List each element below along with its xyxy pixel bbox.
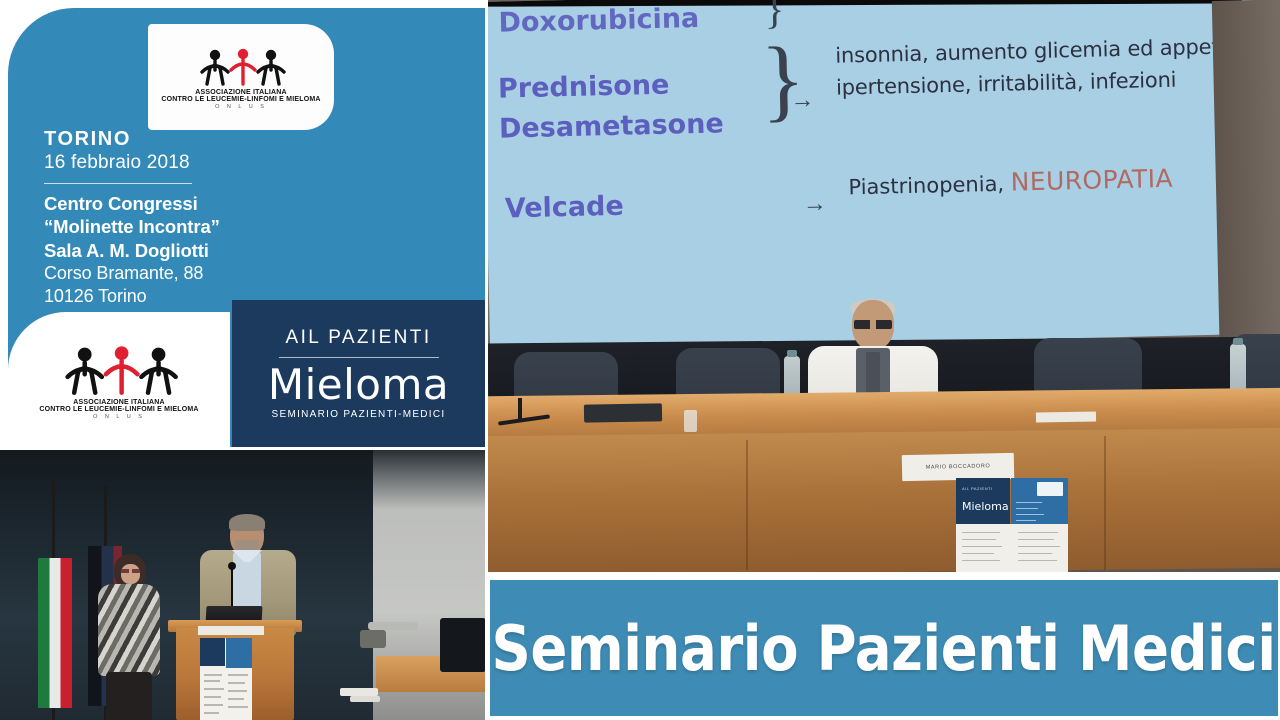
bottom-banner-fill: Seminario Pazienti Medici xyxy=(490,580,1278,716)
brand-subtitle: SEMINARIO PAZIENTI-MEDICI xyxy=(272,409,446,420)
conference-brochure-name: Mieloma xyxy=(962,500,1009,513)
projector-body xyxy=(360,630,386,648)
ail-logo-card-top: ASSOCIAZIONE ITALIANA CONTRO LE LEUCEMIE… xyxy=(148,24,334,130)
podium-brochure-right-page xyxy=(226,638,252,668)
name-placard: MARIO BOCCADORO xyxy=(902,453,1015,481)
ail-logo-icon: ASSOCIAZIONE ITALIANA CONTRO LE LEUCEMIE… xyxy=(161,44,320,110)
ail-logo-line1: ASSOCIAZIONE ITALIANA xyxy=(195,89,287,96)
brand-divider xyxy=(279,357,439,358)
bottom-banner: Seminario Pazienti Medici xyxy=(488,576,1280,720)
table-mousepad xyxy=(584,403,662,422)
ail-logo-bottom-line2: CONTRO LE LEUCEMIE-LINFOMI E MIELOMA xyxy=(39,406,198,413)
screenshot-canvas: ASSOCIAZIONE ITALIANA CONTRO LE LEUCEMIE… xyxy=(0,0,1280,720)
ail-logo-bottom-line3: O N L U S xyxy=(93,414,145,420)
ail-logo-line2: CONTRO LE LEUCEMIE-LINFOMI E MIELOMA xyxy=(161,96,320,103)
ail-logo-card-bottom: ASSOCIAZIONE ITALIANA CONTRO LE LEUCEMIE… xyxy=(8,312,230,447)
woman-face xyxy=(121,564,140,584)
name-placard-text: MARIO BOCCADORO xyxy=(926,463,991,470)
slide-arrow-2: → xyxy=(803,190,828,219)
ail-figures-icon xyxy=(193,44,289,88)
slide-brace-top: } xyxy=(764,0,785,31)
podium-brochure-left-page xyxy=(200,638,225,666)
poster-date: 16 febbraio 2018 xyxy=(44,151,344,176)
poster-details: TORINO 16 febbraio 2018 Centro Congressi… xyxy=(44,128,344,307)
mieloma-brand-block: AIL PAZIENTI Mieloma SEMINARIO PAZIENTI-… xyxy=(232,300,485,447)
table-papers xyxy=(1036,411,1096,422)
woman-trousers xyxy=(106,672,152,720)
water-bottle-cap-2 xyxy=(1233,338,1243,345)
desk-papers-2 xyxy=(350,696,380,702)
video-conference-panel: Doxorubicina } Prednisone Desametasone }… xyxy=(488,0,1280,572)
ail-logo-bottom-line1: ASSOCIAZIONE ITALIANA xyxy=(73,399,165,406)
podium-label-strip xyxy=(198,626,264,635)
ail-logo-line3: O N L U S xyxy=(215,104,267,110)
water-bottle-cap-1 xyxy=(787,350,797,357)
man-hair xyxy=(229,514,265,531)
drinking-glass xyxy=(684,410,697,432)
side-monitor xyxy=(440,618,485,672)
conference-table-front xyxy=(488,428,1280,572)
conference-brochure-title: AIL PAZIENTI xyxy=(962,486,993,491)
woman-jacket xyxy=(98,584,160,676)
ail-logo-icon-large: ASSOCIAZIONE ITALIANA CONTRO LE LEUCEMIE… xyxy=(39,340,198,420)
slide-arrow-1: → xyxy=(790,86,815,115)
slide-drug-2: Desametasone xyxy=(499,108,724,144)
conference-brochure-right-page xyxy=(1011,478,1068,528)
slide-effects-3-normal: Piastrinopenia, xyxy=(848,172,1011,200)
bottom-banner-title: Seminario Pazienti Medici xyxy=(492,612,1276,685)
poster-venue-line1: Centro Congressi xyxy=(44,192,344,215)
projector-arm xyxy=(368,622,418,630)
poster-city: TORINO xyxy=(44,128,344,150)
video-podium-panel xyxy=(0,450,485,720)
conference-brochure-left-page: AIL PAZIENTI Mieloma xyxy=(956,478,1010,524)
brand-title: AIL PAZIENTI xyxy=(286,327,432,349)
poster-divider xyxy=(44,183,192,184)
table-gooseneck-mic-stem xyxy=(518,398,522,422)
conference-brochure: AIL PAZIENTI Mieloma xyxy=(956,478,1068,572)
slide-effects-1-line1: insonnia, aumento glicemia ed appetito, xyxy=(835,34,1252,68)
slide-effects-1-line2: ipertensione, irritabilità, infezioni xyxy=(836,68,1177,100)
slide-effects-3-highlight: NEUROPATIA xyxy=(1010,164,1173,197)
conference-brochure-body xyxy=(956,524,1068,572)
poster-venue-line3: Sala A. M. Dogliotti xyxy=(44,239,344,262)
conference-brochure-logo-box xyxy=(1037,482,1063,496)
woman-glasses-icon xyxy=(121,569,140,573)
slide-drug-1: Prednisone xyxy=(498,70,670,105)
poster-address-line1: Corso Bramante, 88 xyxy=(44,262,344,285)
podium-brochure xyxy=(200,638,252,720)
person-speaker-woman xyxy=(92,554,164,720)
poster-venue-line2: “Molinette Incontra” xyxy=(44,215,344,238)
ail-figures-icon-large xyxy=(55,340,183,398)
slide-drug-cut: Doxorubicina xyxy=(498,3,699,39)
italy-flag xyxy=(38,558,72,708)
event-poster: ASSOCIAZIONE ITALIANA CONTRO LE LEUCEMIE… xyxy=(0,0,485,447)
desk-papers-1 xyxy=(340,688,378,696)
slide-drug-3: Velcade xyxy=(505,191,625,225)
wall-right-of-screen xyxy=(1212,0,1280,373)
podium-microphone-stem xyxy=(231,566,233,610)
brand-name: Mieloma xyxy=(268,365,449,405)
doctor-glasses-icon xyxy=(854,320,892,329)
